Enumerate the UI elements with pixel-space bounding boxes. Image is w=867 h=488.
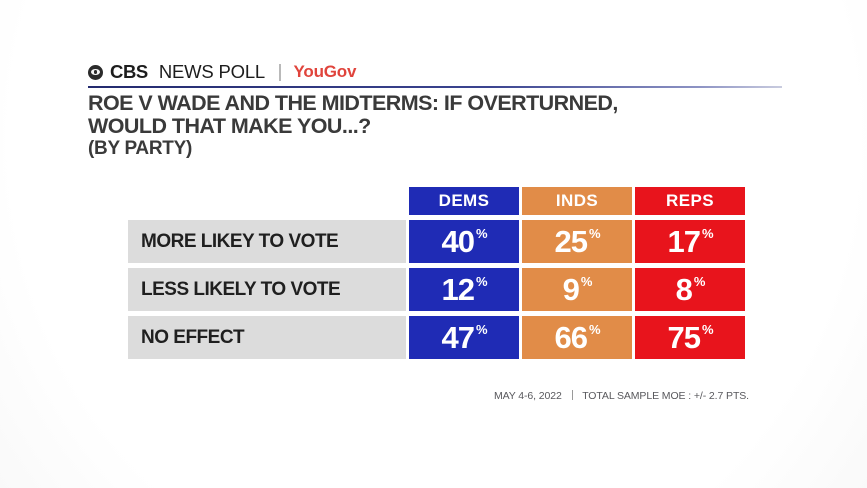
- percent-sign: %: [476, 227, 487, 240]
- percent-sign: %: [476, 323, 487, 336]
- title-line-2: WOULD THAT MAKE YOU...?: [88, 114, 371, 138]
- cell-reps: 75%: [635, 316, 745, 359]
- brand-bar: CBS NEWS POLL YouGov: [88, 61, 356, 83]
- footer-date: MAY 4-6, 2022: [494, 390, 562, 402]
- cell-dems: 40%: [409, 220, 519, 263]
- footer-note: MAY 4-6, 2022 TOTAL SAMPLE MOE : +/- 2.7…: [494, 390, 749, 402]
- results-table: DEMS INDS REPS MORE LIKEY TO VOTE 40% 25…: [128, 187, 742, 359]
- title-line-3: (BY PARTY): [88, 137, 788, 161]
- table-header-row: DEMS INDS REPS: [128, 187, 742, 215]
- cell-inds: 66%: [522, 316, 632, 359]
- footer-moe: TOTAL SAMPLE MOE : +/- 2.7 PTS.: [582, 390, 749, 402]
- percent-sign: %: [589, 227, 600, 240]
- cell-reps: 17%: [635, 220, 745, 263]
- cell-value: 12: [441, 274, 473, 305]
- poll-graphic: CBS NEWS POLL YouGov ROE V WADE AND THE …: [0, 0, 867, 488]
- percent-sign: %: [476, 275, 487, 288]
- row-label: MORE LIKEY TO VOTE: [128, 220, 406, 263]
- title-line-1: ROE V WADE AND THE MIDTERMS: IF OVERTURN…: [88, 91, 618, 115]
- cell-value: 40: [441, 226, 473, 257]
- cell-dems: 12%: [409, 268, 519, 311]
- brand-partner: YouGov: [294, 62, 357, 82]
- cell-value: 17: [667, 226, 699, 257]
- cell-value: 8: [676, 274, 692, 305]
- header-corner-spacer: [128, 187, 406, 215]
- cell-dems: 47%: [409, 316, 519, 359]
- percent-sign: %: [581, 275, 592, 288]
- cbs-eye-icon: [88, 65, 103, 80]
- brand-divider: [279, 64, 281, 81]
- cell-value: 75: [667, 322, 699, 353]
- cell-value: 66: [554, 322, 586, 353]
- cell-inds: 9%: [522, 268, 632, 311]
- percent-sign: %: [589, 323, 600, 336]
- column-header-reps: REPS: [635, 187, 745, 215]
- header-rule: [88, 86, 782, 88]
- row-label: LESS LIKELY TO VOTE: [128, 268, 406, 311]
- row-label: NO EFFECT: [128, 316, 406, 359]
- brand-network: CBS: [110, 61, 148, 83]
- table-row: NO EFFECT 47% 66% 75%: [128, 316, 742, 359]
- cell-value: 25: [554, 226, 586, 257]
- table-row: MORE LIKEY TO VOTE 40% 25% 17%: [128, 220, 742, 263]
- cell-value: 9: [563, 274, 579, 305]
- footer-divider: [572, 390, 573, 400]
- cell-reps: 8%: [635, 268, 745, 311]
- percent-sign: %: [702, 323, 713, 336]
- percent-sign: %: [702, 227, 713, 240]
- table-row: LESS LIKELY TO VOTE 12% 9% 8%: [128, 268, 742, 311]
- percent-sign: %: [694, 275, 705, 288]
- cell-value: 47: [441, 322, 473, 353]
- page-title: ROE V WADE AND THE MIDTERMS: IF OVERTURN…: [88, 92, 788, 161]
- cell-inds: 25%: [522, 220, 632, 263]
- brand-poll-label: NEWS POLL: [159, 61, 265, 83]
- column-header-inds: INDS: [522, 187, 632, 215]
- column-header-dems: DEMS: [409, 187, 519, 215]
